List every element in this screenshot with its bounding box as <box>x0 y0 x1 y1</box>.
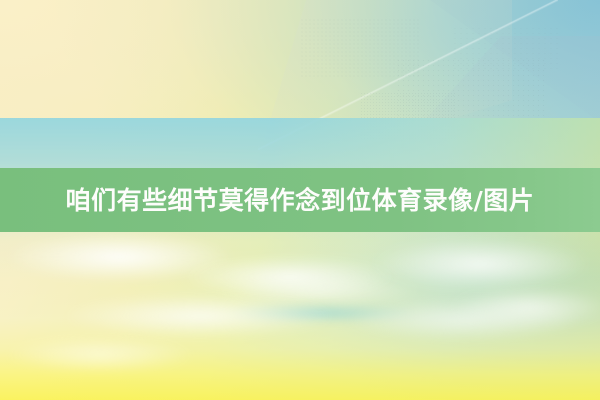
screenshot-canvas: 咱们有些细节莫得作念到位体育录像/图片 <box>0 0 600 400</box>
caption-banner: 咱们有些细节莫得作念到位体育录像/图片 <box>0 168 600 232</box>
decorative-dot-grid-d <box>452 26 562 72</box>
caption-text: 咱们有些细节莫得作念到位体育录像/图片 <box>66 188 535 213</box>
